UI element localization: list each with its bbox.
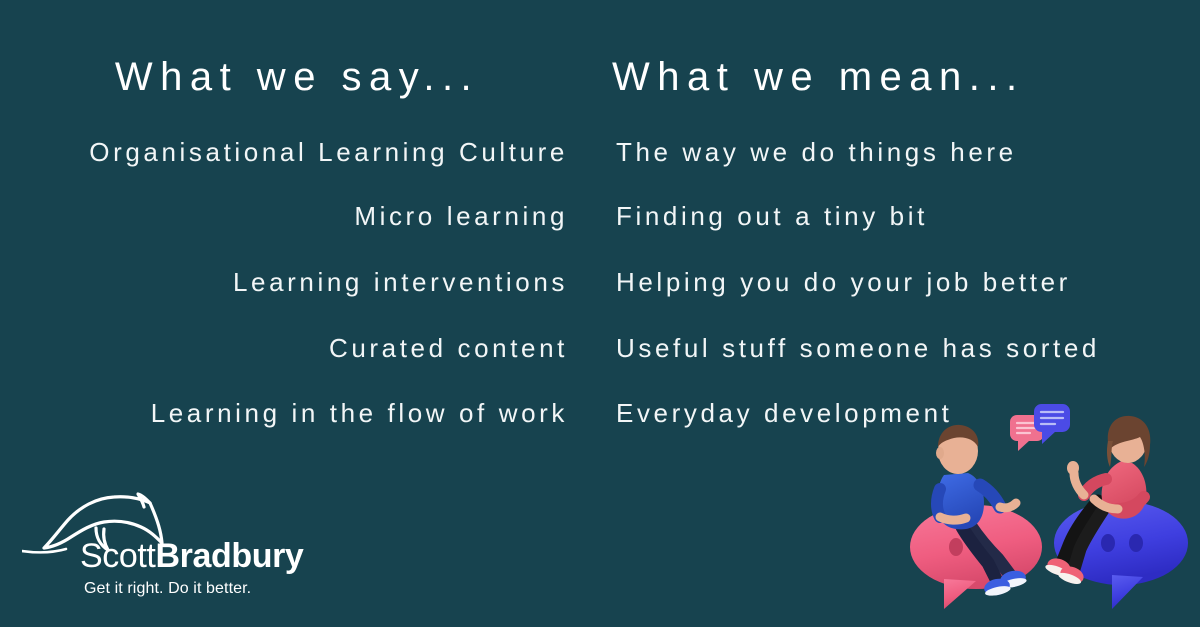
table-row: The way we do things here — [612, 126, 1200, 178]
table-row: Micro learning — [0, 190, 572, 242]
table-row: Useful stuff someone has sorted — [612, 322, 1200, 374]
column-what-we-say: Organisational Learning Culture Micro le… — [0, 126, 572, 446]
heading-what-we-say: What we say... — [0, 46, 594, 108]
table-row: Curated content — [0, 322, 572, 374]
slide-canvas: What we say... What we mean... Organisat… — [0, 0, 1200, 627]
table-row: Learning in the flow of work — [0, 387, 572, 439]
table-row: Organisational Learning Culture — [0, 126, 572, 178]
logo-word-scott: Scott — [80, 537, 155, 575]
illustration-two-people-on-speech-bubbles — [900, 397, 1200, 627]
logo-word-bradbury: Bradbury — [155, 537, 303, 575]
table-row: Learning interventions — [0, 256, 572, 308]
logo: ScottBradbury Get it right. Do it better… — [22, 491, 312, 609]
logo-tagline: Get it right. Do it better. — [84, 579, 251, 599]
headings-row: What we say... What we mean... — [0, 46, 1200, 108]
logo-wordmark: ScottBradbury — [80, 537, 303, 575]
table-row: Helping you do your job better — [612, 256, 1200, 308]
table-row: Finding out a tiny bit — [612, 190, 1200, 242]
